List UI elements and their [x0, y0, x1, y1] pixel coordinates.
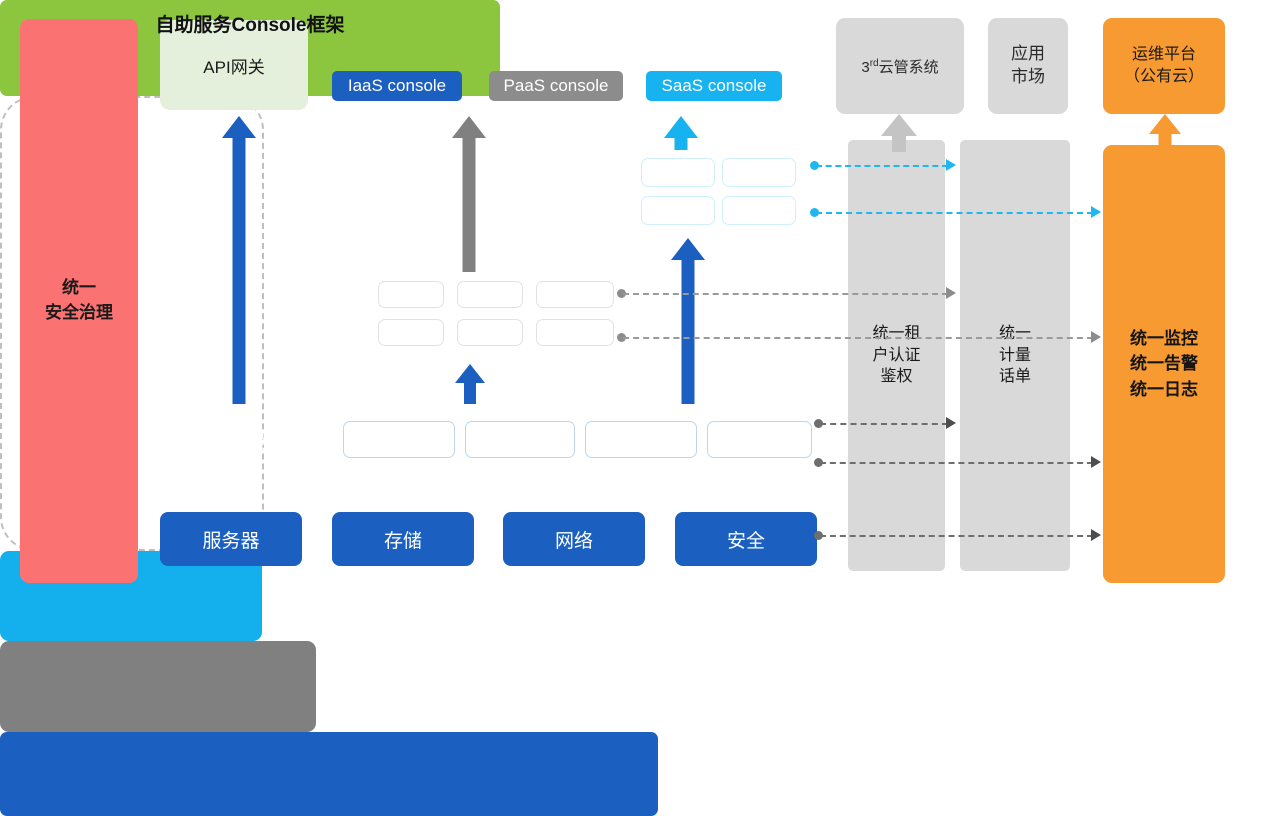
- arrow-infra-to-paas: [455, 364, 485, 404]
- arrow-infra-to-saas: [671, 238, 705, 404]
- hardware-box-server[interactable]: 服务器: [160, 512, 302, 566]
- connector-paas-to-ops: [623, 337, 1093, 339]
- arrow-shared-to-third-party: [881, 114, 917, 152]
- paas-layer-box: [0, 641, 316, 732]
- auth-line2: 户认证: [872, 345, 920, 367]
- architecture-diagram: 统一 安全治理 API网关 自助服务Console框架 IaaS console…: [0, 0, 1265, 605]
- metering-line1: 统一: [999, 323, 1031, 345]
- metering-line2: 计量: [999, 345, 1031, 367]
- infra-chip-cce[interactable]: CCE: [707, 421, 812, 458]
- ops-platform-public-cloud-box: 运维平台 （公有云）: [1103, 18, 1225, 114]
- paas-chip-modelarts[interactable]: ModelArts: [536, 281, 614, 308]
- hardware-box-security[interactable]: 安全: [675, 512, 817, 566]
- saas-chip-desktop-cloud[interactable]: 桌面云: [722, 196, 796, 225]
- connector-saas-to-ops: [816, 212, 1093, 214]
- arrow-saas-to-saas-console: [664, 116, 698, 150]
- arrow-paas-to-console: [452, 116, 486, 272]
- third-party-label: 3rd云管系统: [861, 56, 938, 77]
- connector-arrowhead-hardware-ops: [1091, 529, 1101, 541]
- third-party-cloud-mgmt-box: 3rd云管系统: [836, 18, 964, 114]
- app-market-box: 应用 市场: [988, 18, 1068, 114]
- app-market-line2: 市场: [1011, 66, 1045, 89]
- unified-infrastructure-label: 统一基础设施服务: [172, 427, 324, 454]
- security-governance-panel: 统一 安全治理: [20, 19, 138, 583]
- metering-line3: 话单: [999, 366, 1031, 388]
- connector-arrowhead-paas-auth: [946, 287, 956, 299]
- ops-panel-line1: 统一监控: [1130, 326, 1198, 352]
- paas-chip-dgc[interactable]: DGC: [457, 281, 523, 308]
- paas-chip-roma[interactable]: ROMA: [378, 281, 444, 308]
- connector-hardware-to-ops: [820, 535, 1093, 537]
- ops-panel-line3: 统一日志: [1130, 377, 1198, 403]
- auth-line1: 统一租: [872, 323, 920, 345]
- connector-arrowhead-paas-ops: [1091, 331, 1101, 343]
- connector-arrowhead-saas-auth: [946, 159, 956, 171]
- iaas-console-label: IaaS console: [348, 76, 446, 96]
- paas-chip-bigdata[interactable]: 大数据: [536, 319, 614, 346]
- paas-chip-cache[interactable]: 缓存: [457, 319, 523, 346]
- app-market-line1: 应用: [1011, 43, 1045, 66]
- saas-layer-label: SaaS: [560, 180, 636, 203]
- saas-console-button[interactable]: SaaS console: [646, 71, 782, 101]
- connector-saas-to-auth: [816, 165, 948, 167]
- saas-chip-video-cloud[interactable]: 视频云: [641, 196, 715, 225]
- connector-arrowhead-saas-ops: [1091, 206, 1101, 218]
- saas-console-label: SaaS console: [662, 76, 767, 96]
- connector-arrowhead-infra-auth: [946, 417, 956, 429]
- ops-platform-line2: （公有云）: [1124, 66, 1204, 88]
- saas-chip-blockchain[interactable]: 区块链: [641, 158, 715, 187]
- connector-infra-to-auth: [820, 423, 948, 425]
- auth-line3: 鉴权: [872, 366, 920, 388]
- unified-tenant-auth-column: 统一租 户认证 鉴权: [848, 140, 945, 571]
- ops-platform-line1: 运维平台: [1124, 44, 1204, 66]
- connector-arrowhead-infra-ops: [1091, 456, 1101, 468]
- api-gateway-label: API网关: [203, 53, 264, 78]
- iaas-console-button[interactable]: IaaS console: [332, 71, 462, 101]
- unified-metering-billing-column: 统一 计量 话单: [960, 140, 1070, 571]
- saas-chip-iot[interactable]: IoT: [722, 158, 796, 187]
- hardware-box-network[interactable]: 网络: [503, 512, 645, 566]
- connector-paas-to-auth: [623, 293, 948, 295]
- paas-layer-label: PaaS: [313, 303, 385, 327]
- infra-chip-network[interactable]: Network: [585, 421, 697, 458]
- security-governance-line2: 安全治理: [45, 301, 113, 326]
- hardware-box-storage[interactable]: 存储: [332, 512, 474, 566]
- paas-chip-database[interactable]: 数据库: [378, 319, 444, 346]
- infra-chip-storage[interactable]: Storage: [465, 421, 575, 458]
- unified-ops-panel: 统一监控 统一告警 统一日志: [1103, 145, 1225, 583]
- connector-infra-to-ops: [820, 462, 1093, 464]
- arrow-shared-to-ops-platform: [1149, 114, 1181, 150]
- paas-console-label: PaaS console: [504, 76, 609, 96]
- arrow-infra-to-api-gateway: [222, 116, 256, 404]
- unified-infrastructure-bar: [0, 732, 658, 816]
- security-governance-line1: 统一: [45, 276, 113, 301]
- infra-chip-compute[interactable]: Compute: [343, 421, 455, 458]
- ops-panel-line2: 统一告警: [1130, 351, 1198, 377]
- paas-console-button[interactable]: PaaS console: [489, 71, 623, 101]
- console-framework-title: 自助服务Console框架: [0, 10, 500, 37]
